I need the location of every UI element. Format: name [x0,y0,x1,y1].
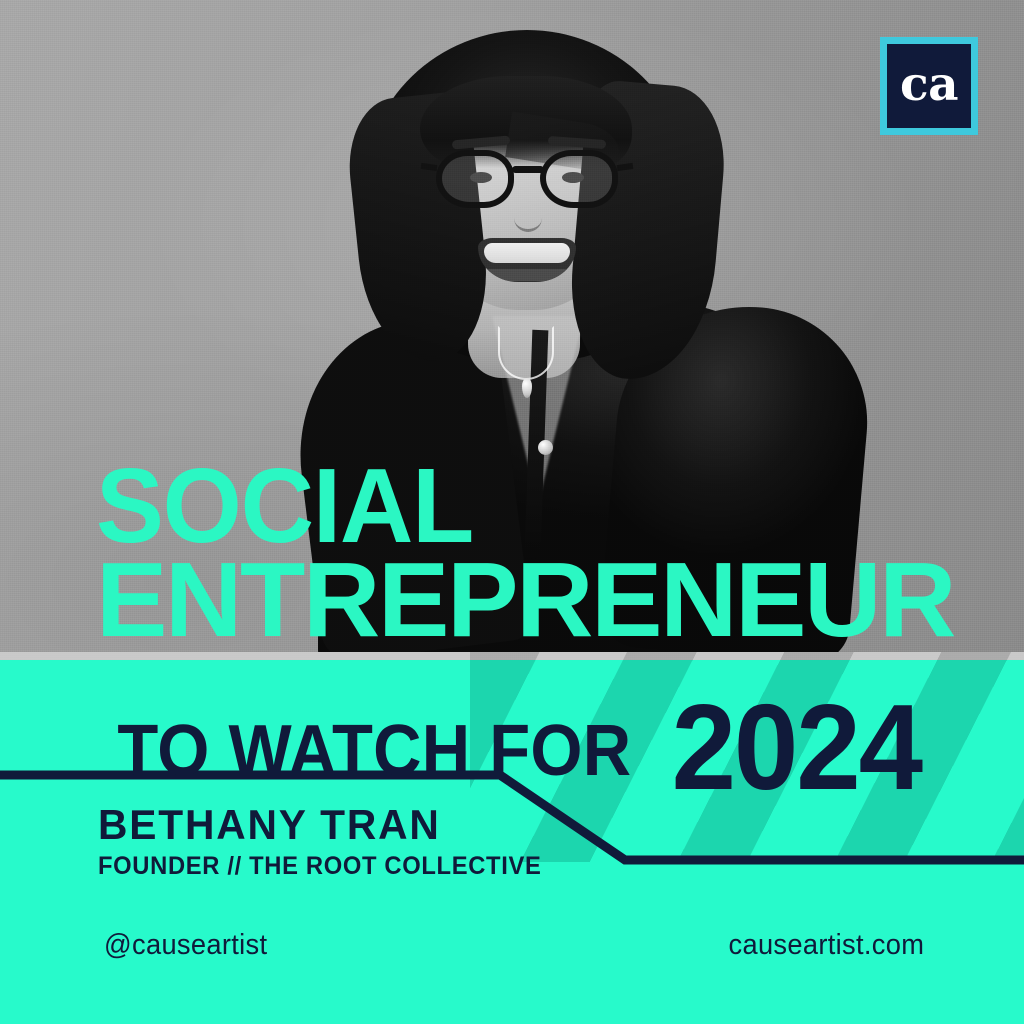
lens-left-icon [436,150,514,208]
honoree-role: FOUNDER // THE ROOT COLLECTIVE [98,853,542,881]
social-handle[interactable]: @causeartist [104,929,267,962]
honoree-block: BETHANY TRAN FOUNDER // THE ROOT COLLECT… [98,803,565,881]
year-label: 2024 [671,686,920,808]
glasses-icon [436,150,620,212]
footer: @causeartist causeartist.com [0,915,1024,975]
teeth-shape [484,243,570,263]
logo-mark-text: ca [900,61,958,108]
button-icon [538,440,553,455]
social-entrepreneur-poster: SOCIAL ENTREPRENEUR TO WATCH FOR 2024 BE… [0,0,1024,1024]
subline-text: TO WATCH FOR [117,715,631,787]
mouth-icon [478,238,576,282]
portrait-figure [0,0,1024,660]
lower-lip-shape [488,269,566,281]
honoree-name: BETHANY TRAN [98,803,551,847]
subline-row: TO WATCH FOR 2024 [98,672,927,794]
portrait-photo [0,0,1024,660]
glasses-bridge-icon [512,166,544,173]
necklace-icon [498,326,554,380]
causeartist-logo[interactable]: ca [880,37,978,135]
lens-right-icon [540,150,618,208]
website-url[interactable]: causeartist.com [728,929,924,962]
